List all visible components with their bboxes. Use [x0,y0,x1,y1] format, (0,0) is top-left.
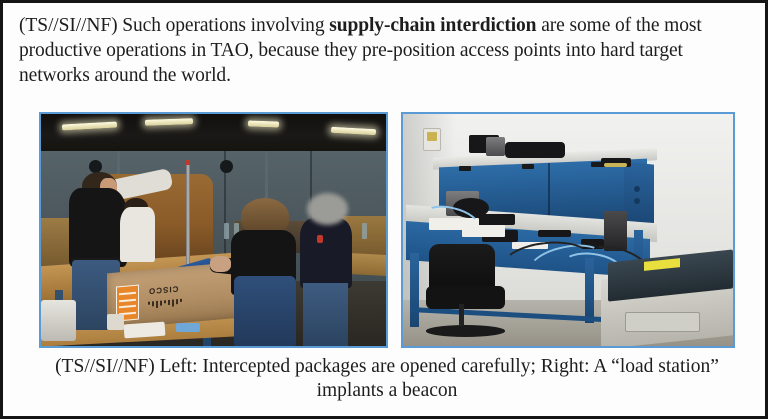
table-papers [123,321,165,338]
background-bottle [224,223,229,239]
fourth-worker-blurred-face [307,193,348,225]
bench-clamp [459,166,471,171]
caption-line-2: implants a beacon [19,379,755,403]
third-worker-apron [234,276,296,346]
office-chair-post [459,304,464,325]
hutch-knob [634,186,640,192]
photo-row: CISCO [39,112,735,348]
drill-bit-shaft [186,165,190,267]
desk-monitor [41,300,76,342]
ceiling-light [248,120,279,127]
blue-tape [176,323,200,332]
heading-paragraph: (TS//SI//NF) Such operations involving s… [19,13,757,88]
heading-text-before-bold: (TS//SI//NF) Such operations involving [19,15,329,36]
fourth-worker-jeans [303,283,348,346]
slide-container: (TS//SI//NF) Such operations involving s… [0,0,768,419]
table-cup [107,314,124,330]
caption-line-1: (TS//SI//NF) Left: Intercepted packages … [19,355,755,379]
third-worker-hand [210,256,231,272]
bench-cable-tray [538,230,571,237]
cart-tray [625,312,700,333]
photo-left-intercepted-packages: CISCO [39,112,388,348]
office-chair-seat [426,286,505,309]
ceiling [41,114,386,153]
photo-right-load-station [401,112,735,348]
hutch-knob [634,198,640,204]
photo-right-content [403,114,733,346]
background-bottle [362,223,367,239]
fourth-worker-torso [300,218,352,288]
cisco-wordmark: CISCO [147,284,177,296]
second-worker-torso [120,207,155,263]
heading-bold-phrase: supply-chain interdiction [329,15,536,36]
workbench-leg [410,253,419,327]
wall-outlet [423,128,442,151]
shelf-equipment-bag [505,142,564,158]
office-chair-base [426,325,505,337]
figure-caption: (TS//SI//NF) Left: Intercepted packages … [19,355,755,403]
photo-left-content: CISCO [41,114,386,346]
shelf-terminal-strip [604,163,627,168]
ceiling-light [144,118,192,126]
wall-pipe [265,151,268,202]
shelf-equipment-grey [486,137,506,156]
worker-torso-black-shirt [69,188,128,267]
bench-clamp [522,164,534,169]
fourth-worker-badge [317,235,323,243]
cisco-logo-bars [147,299,181,309]
